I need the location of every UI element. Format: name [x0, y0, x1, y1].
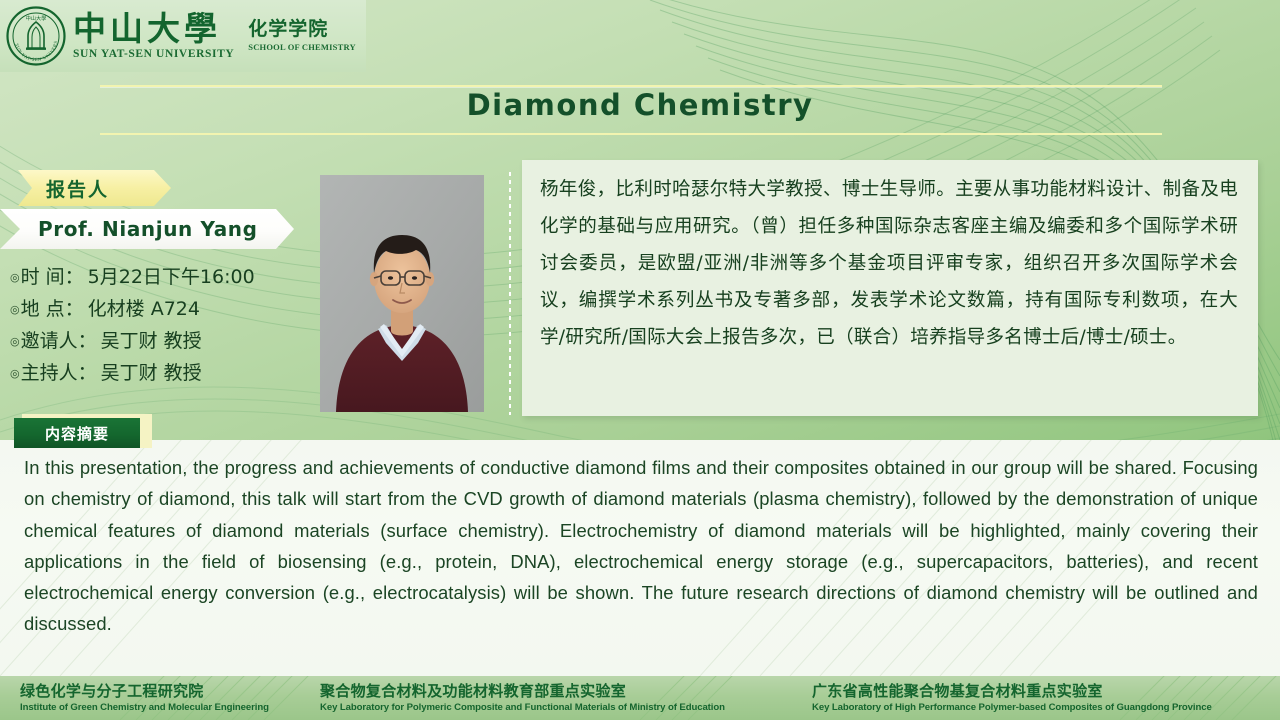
poster-canvas: 中山大學 SUN YAT-SEN UNIVERSITY 中山大學 SUN YAT…: [0, 0, 1280, 720]
speaker-name: Prof. Nianjun Yang: [38, 217, 258, 241]
title-rule-bottom: [100, 133, 1162, 135]
footer-institute-cn: 绿色化学与分子工程研究院: [20, 683, 269, 700]
detail-value-inviter: 吴丁财 教授: [101, 326, 202, 353]
speaker-info-column: 报告人 Prof. Nianjun Yang ◎ 时 间： 5月22日下午16:…: [0, 170, 300, 390]
speaker-photo: [320, 175, 484, 412]
abstract-tab: 内容摘要: [14, 418, 140, 448]
school-name-en: SCHOOL OF CHEMISTRY: [248, 42, 356, 52]
footer-institute-en: Institute of Green Chemistry and Molecul…: [20, 702, 269, 714]
footer-gd-lab-cn: 广东省高性能聚合物基复合材料重点实验室: [812, 683, 1212, 700]
university-name-block: 中山大學 SUN YAT-SEN UNIVERSITY: [73, 12, 234, 60]
abstract-text: In this presentation, the progress and a…: [24, 452, 1258, 671]
page-title: Diamond Chemistry: [0, 88, 1280, 122]
speaker-bio-panel: 杨年俊，比利时哈瑟尔特大学教授、博士生导师。主要从事功能材料设计、制备及电化学的…: [522, 160, 1258, 416]
footer-moe-lab-en: Key Laboratory for Polymeric Composite a…: [320, 702, 725, 714]
footer-gd-lab-en: Key Laboratory of High Performance Polym…: [812, 702, 1212, 714]
detail-label-location: 地 点：: [21, 294, 84, 321]
footer-item-institute: 绿色化学与分子工程研究院 Institute of Green Chemistr…: [20, 678, 269, 718]
detail-value-time: 5月22日下午16:00: [88, 262, 255, 289]
detail-label-inviter: 邀请人：: [21, 326, 97, 353]
speaker-role-banner: 报告人: [18, 170, 171, 206]
university-name-cn: 中山大學: [73, 12, 234, 47]
school-name-cn: 化学学院: [248, 19, 356, 40]
speaker-role-label: 报告人: [46, 175, 109, 202]
detail-row-host: ◎ 主持人： 吴丁财 教授: [10, 358, 300, 385]
detail-label-time: 时 间：: [21, 262, 84, 289]
bullet-icon: ◎: [10, 271, 20, 284]
svg-text:中山大學: 中山大學: [26, 14, 47, 22]
detail-label-host: 主持人：: [21, 358, 97, 385]
footer-moe-lab-cn: 聚合物复合材料及功能材料教育部重点实验室: [320, 683, 725, 700]
speaker-bio-text: 杨年俊，比利时哈瑟尔特大学教授、博士生导师。主要从事功能材料设计、制备及电化学的…: [540, 171, 1238, 356]
bullet-icon: ◎: [10, 335, 20, 348]
abstract-tab-label: 内容摘要: [45, 423, 109, 444]
footer-item-gd-lab: 广东省高性能聚合物基复合材料重点实验室 Key Laboratory of Hi…: [812, 678, 1212, 718]
university-name-en: SUN YAT-SEN UNIVERSITY: [73, 48, 234, 60]
seminar-details-list: ◎ 时 间： 5月22日下午16:00 ◎ 地 点： 化材楼 A724 ◎ 邀请…: [0, 262, 300, 385]
school-name-block: 化学学院 SCHOOL OF CHEMISTRY: [248, 19, 356, 54]
detail-row-location: ◎ 地 点： 化材楼 A724: [10, 294, 300, 321]
detail-row-inviter: ◎ 邀请人： 吴丁财 教授: [10, 326, 300, 353]
detail-value-location: 化材楼 A724: [88, 294, 200, 321]
footer-item-moe-lab: 聚合物复合材料及功能材料教育部重点实验室 Key Laboratory for …: [320, 678, 725, 718]
detail-row-time: ◎ 时 间： 5月22日下午16:00: [10, 262, 300, 289]
university-header: 中山大學 SUN YAT-SEN UNIVERSITY 中山大學 SUN YAT…: [0, 0, 366, 72]
bullet-icon: ◎: [10, 367, 20, 380]
detail-value-host: 吴丁财 教授: [101, 358, 202, 385]
title-rule-top: [100, 85, 1162, 87]
bullet-icon: ◎: [10, 303, 20, 316]
speaker-name-banner: Prof. Nianjun Yang: [0, 209, 294, 249]
footer-bar: 绿色化学与分子工程研究院 Institute of Green Chemistr…: [0, 676, 1280, 720]
photo-bio-divider: [509, 172, 511, 415]
university-seal-icon: 中山大學 SUN YAT-SEN UNIVERSITY: [6, 6, 66, 66]
